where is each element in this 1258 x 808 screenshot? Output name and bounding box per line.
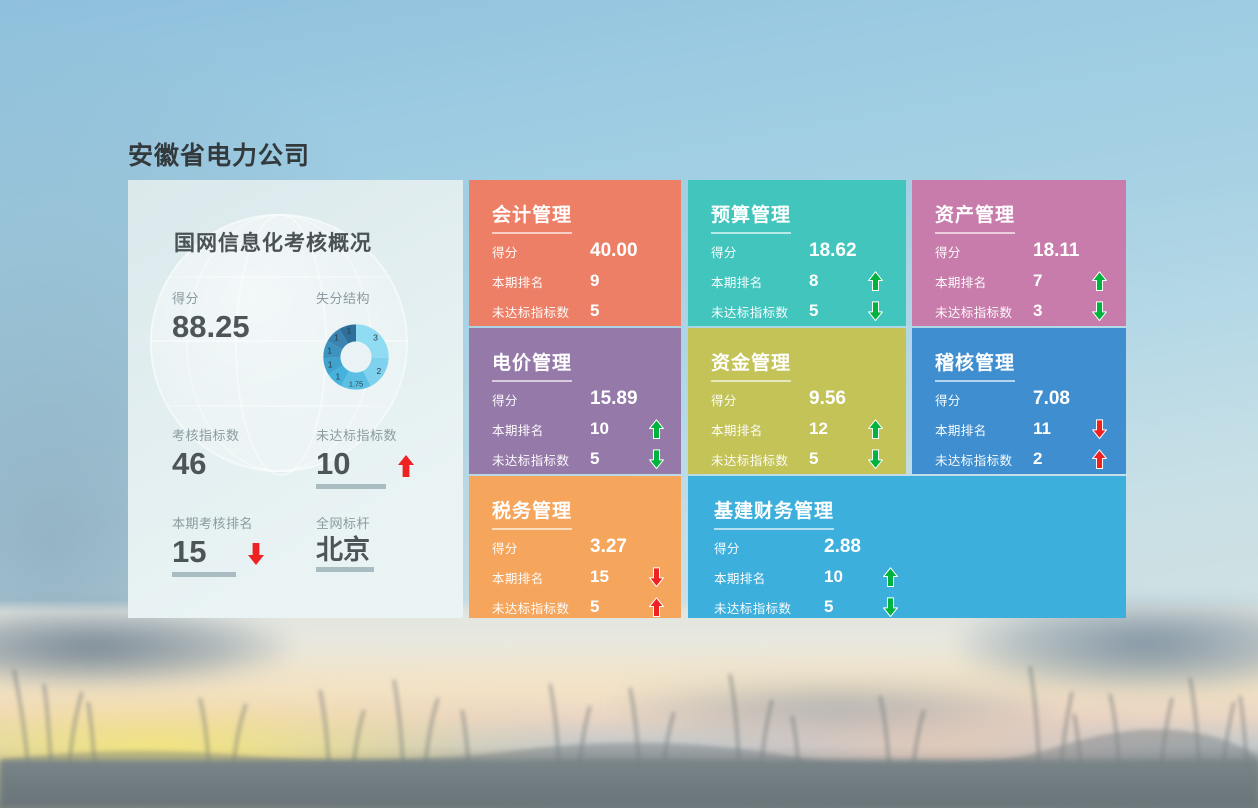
card-row-label: 未达标指标数 — [492, 598, 590, 617]
card-row-label: 本期排名 — [935, 272, 1033, 291]
card-title: 税务管理 — [492, 496, 572, 530]
donut-slice-label: 1.75 — [349, 380, 363, 389]
card-row-value: 2 — [1033, 449, 1091, 469]
card-fund[interactable]: 资金管理 得分9.56本期排名12未达标指标数5 — [688, 328, 906, 474]
card-row: 本期排名7 — [935, 266, 1110, 296]
card-row-value: 40.00 — [590, 240, 648, 262]
card-row-label: 得分 — [492, 390, 590, 409]
card-row: 本期排名12 — [711, 414, 890, 444]
arrow-down-red-icon — [247, 542, 265, 566]
card-title: 预算管理 — [711, 200, 791, 234]
card-row-value: 11 — [1033, 419, 1091, 439]
overview-cell-rank: 本期考核排名 15 — [172, 513, 265, 577]
overview-value-benchmark: 北京 — [316, 536, 370, 564]
arrow-down-green-icon — [867, 448, 884, 470]
overview-underline-missed-count — [316, 484, 386, 489]
overview-underline-rank — [172, 572, 236, 577]
card-row: 未达标指标数5 — [714, 592, 1110, 622]
card-row: 得分40.00 — [492, 236, 665, 266]
card-row: 未达标指标数5 — [492, 444, 665, 474]
arrow-up-green-icon — [867, 418, 884, 440]
donut-slice-label: 1 — [334, 333, 339, 343]
card-row-label: 本期排名 — [711, 420, 809, 439]
overview-cell-missed-count: 未达标指标数 10 — [316, 425, 415, 489]
card-row-value: 5 — [590, 597, 648, 617]
card-row-value: 10 — [824, 567, 882, 587]
arrow-down-green-icon — [867, 300, 884, 322]
overview-value-indicator-count: 46 — [172, 448, 206, 481]
page-title: 安徽省电力公司 — [128, 136, 310, 172]
dashboard: 国网信息化考核概况 得分 88.25 失分结构 321.7511111 — [128, 180, 1126, 618]
card-row-label: 得分 — [935, 390, 1033, 409]
card-title: 基建财务管理 — [714, 496, 834, 530]
card-title: 稽核管理 — [935, 348, 1015, 382]
card-row: 得分3.27 — [492, 532, 665, 562]
card-row-label: 未达标指标数 — [935, 450, 1033, 469]
card-row: 未达标指标数3 — [935, 296, 1110, 326]
card-row: 未达标指标数5 — [711, 444, 890, 474]
card-row-label: 本期排名 — [935, 420, 1033, 439]
donut-slice-label: 3 — [373, 333, 378, 343]
overview-value-score: 88.25 — [172, 311, 250, 344]
card-row: 本期排名11 — [935, 414, 1110, 444]
arrow-up-green-icon — [867, 270, 884, 292]
card-rows: 得分3.27本期排名15未达标指标数5 — [492, 532, 665, 622]
card-row-value: 5 — [590, 449, 648, 469]
card-rows: 得分15.89本期排名10未达标指标数5 — [492, 384, 665, 474]
card-row-value: 12 — [809, 419, 867, 439]
donut-slice-label: 1 — [335, 372, 340, 382]
overview-cell-loss-structure: 失分结构 — [316, 288, 370, 307]
card-row: 未达标指标数5 — [492, 592, 665, 622]
card-row-label: 本期排名 — [492, 272, 590, 291]
arrow-up-red-icon — [397, 454, 415, 478]
card-row: 未达标指标数5 — [711, 296, 890, 326]
arrow-down-green-icon — [882, 596, 899, 618]
card-row: 未达标指标数2 — [935, 444, 1110, 474]
arrow-down-red-icon — [648, 566, 665, 588]
card-row-value: 15.89 — [590, 388, 648, 410]
card-row: 得分15.89 — [492, 384, 665, 414]
card-row-label: 得分 — [492, 538, 590, 557]
card-row-value: 3 — [1033, 301, 1091, 321]
donut-slice-label: 2 — [376, 366, 381, 376]
arrow-down-green-icon — [648, 448, 665, 470]
card-row-label: 本期排名 — [714, 568, 824, 587]
arrow-down-red-icon — [1091, 418, 1108, 440]
card-row: 未达标指标数5 — [492, 296, 665, 326]
arrow-up-red-icon — [648, 596, 665, 618]
overview-title: 国网信息化考核概况 — [174, 227, 372, 257]
card-row-label: 本期排名 — [492, 420, 590, 439]
overview-label-rank: 本期考核排名 — [172, 513, 265, 532]
card-row-value: 9 — [590, 271, 648, 291]
card-rows: 得分2.88本期排名10未达标指标数5 — [714, 532, 1110, 622]
overview-cell-score: 得分 88.25 — [172, 288, 250, 344]
card-row: 得分18.11 — [935, 236, 1110, 266]
card-row-label: 未达标指标数 — [711, 302, 809, 321]
card-row-value: 15 — [590, 567, 648, 587]
overview-label-indicator-count: 考核指标数 — [172, 425, 240, 444]
card-row-label: 本期排名 — [492, 568, 590, 587]
card-row-label: 未达标指标数 — [714, 598, 824, 617]
card-row-value: 5 — [809, 449, 867, 469]
card-row: 得分2.88 — [714, 532, 1110, 562]
card-budget[interactable]: 预算管理 得分18.62本期排名8未达标指标数5 — [688, 180, 906, 326]
overview-panel: 国网信息化考核概况 得分 88.25 失分结构 321.7511111 — [128, 180, 463, 618]
card-rows: 得分18.62本期排名8未达标指标数5 — [711, 236, 890, 326]
donut-labels: 321.7511111 — [313, 314, 399, 400]
card-title: 资金管理 — [711, 348, 791, 382]
card-rows: 得分9.56本期排名12未达标指标数5 — [711, 384, 890, 474]
card-row: 本期排名8 — [711, 266, 890, 296]
card-row: 本期排名15 — [492, 562, 665, 592]
card-asset[interactable]: 资产管理 得分18.11本期排名7未达标指标数3 — [912, 180, 1126, 326]
card-row-value: 9.56 — [809, 388, 867, 410]
card-tax[interactable]: 税务管理 得分3.27本期排名15未达标指标数5 — [469, 476, 681, 618]
overview-label-score: 得分 — [172, 288, 250, 307]
arrow-up-green-icon — [648, 418, 665, 440]
card-audit[interactable]: 稽核管理 得分7.08本期排名11未达标指标数2 — [912, 328, 1126, 474]
card-rows: 得分40.00本期排名9未达标指标数5 — [492, 236, 665, 326]
overview-underline-benchmark — [316, 567, 374, 572]
overview-value-missed-count: 10 — [316, 448, 350, 481]
overview-label-missed-count: 未达标指标数 — [316, 425, 415, 444]
overview-value-rank: 15 — [172, 536, 206, 569]
card-title: 会计管理 — [492, 200, 572, 234]
arrow-up-green-icon — [882, 566, 899, 588]
overview-cell-benchmark: 全网标杆 北京 — [316, 513, 374, 572]
arrow-down-green-icon — [1091, 300, 1108, 322]
card-row-label: 得分 — [714, 538, 824, 557]
loss-structure-donut-chart: 321.7511111 — [313, 314, 399, 400]
card-row-value: 18.11 — [1033, 240, 1091, 262]
overview-cell-indicator-count: 考核指标数 46 — [172, 425, 240, 481]
card-row-value: 5 — [809, 301, 867, 321]
donut-slice-label: 1 — [328, 360, 333, 370]
card-row-label: 本期排名 — [711, 272, 809, 291]
card-row: 本期排名10 — [492, 414, 665, 444]
overview-label-benchmark: 全网标杆 — [316, 513, 374, 532]
card-row: 得分7.08 — [935, 384, 1110, 414]
donut-slice-label: 1 — [346, 325, 351, 335]
donut-slice-label: 1 — [327, 345, 332, 355]
card-row-label: 得分 — [711, 242, 809, 261]
card-row-value: 5 — [824, 597, 882, 617]
card-row-label: 得分 — [492, 242, 590, 261]
overview-label-loss-structure: 失分结构 — [316, 288, 370, 307]
card-row-value: 2.88 — [824, 536, 882, 558]
card-price[interactable]: 电价管理 得分15.89本期排名10未达标指标数5 — [469, 328, 681, 474]
card-infrastructure-finance[interactable]: 基建财务管理 得分2.88本期排名10未达标指标数5 — [688, 476, 1126, 618]
card-row-label: 未达标指标数 — [492, 450, 590, 469]
card-title: 资产管理 — [935, 200, 1015, 234]
card-row-label: 未达标指标数 — [711, 450, 809, 469]
card-row-value: 3.27 — [590, 536, 648, 558]
card-rows: 得分7.08本期排名11未达标指标数2 — [935, 384, 1110, 474]
card-row-label: 未达标指标数 — [492, 302, 590, 321]
card-row: 得分9.56 — [711, 384, 890, 414]
card-row-label: 得分 — [935, 242, 1033, 261]
card-row: 得分18.62 — [711, 236, 890, 266]
card-row-value: 8 — [809, 271, 867, 291]
card-row-value: 5 — [590, 301, 648, 321]
card-row-value: 18.62 — [809, 240, 867, 262]
card-row: 本期排名10 — [714, 562, 1110, 592]
card-row-value: 10 — [590, 419, 648, 439]
card-rows: 得分18.11本期排名7未达标指标数3 — [935, 236, 1110, 326]
card-row: 本期排名9 — [492, 266, 665, 296]
card-row-value: 7.08 — [1033, 388, 1091, 410]
card-accounting[interactable]: 会计管理 得分40.00本期排名9未达标指标数5 — [469, 180, 681, 326]
arrow-up-red-icon — [1091, 448, 1108, 470]
arrow-up-green-icon — [1091, 270, 1108, 292]
card-row-label: 得分 — [711, 390, 809, 409]
card-row-value: 7 — [1033, 271, 1091, 291]
card-title: 电价管理 — [492, 348, 572, 382]
card-row-label: 未达标指标数 — [935, 302, 1033, 321]
